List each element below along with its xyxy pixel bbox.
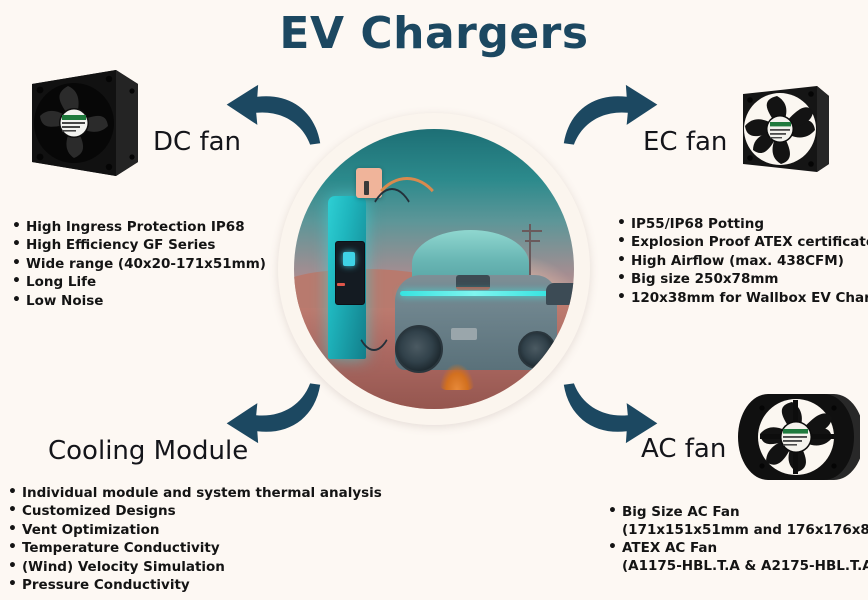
ec-axial-fan-photo [737,80,833,176]
list-item: Individual module and system thermal ana… [8,484,382,502]
list-item: Big size 250x78mm [617,270,868,288]
cooling-module-feature-list: Individual module and system thermal ana… [8,484,382,594]
charging-station-sign-glyph [364,181,369,195]
car-plate [451,328,477,340]
list-item: IP55/IP68 Potting [617,215,868,233]
list-item: ATEX AC Fan [608,539,868,557]
ev-car-charging-station-photo [294,129,574,409]
ec-fan-feature-list: IP55/IP68 Potting Explosion Proof ATEX c… [617,215,868,307]
list-item: High Efficiency GF Series [12,236,266,254]
list-item: Pressure Conductivity [8,576,382,594]
list-item: Big Size AC Fan [608,503,868,521]
ac-fan-feature-list: Big Size AC Fan (171x151x51mm and 176x17… [608,503,868,575]
dc-axial-fan-photo [24,62,146,184]
ac-axial-fan-photo [738,388,860,486]
list-item: Vent Optimization [8,521,382,539]
list-item: High Ingress Protection IP68 [12,218,266,236]
car-wheel-left [395,325,443,373]
page-title: EV Chargers [0,8,868,59]
list-item: Temperature Conductivity [8,539,382,557]
list-item: (Wind) Velocity Simulation [8,558,382,576]
list-item-detail: (171x151x51mm and 176x176x89mm) [608,521,868,539]
charging-station-indicator [337,283,345,286]
background-car [546,283,574,305]
list-item: High Airflow (max. 438CFM) [617,252,868,270]
charging-station-display [343,252,355,266]
list-item: Customized Designs [8,502,382,520]
power-pole-crossbar [522,230,542,232]
list-item: Long Life [12,273,266,291]
list-item: 120x38mm for Wallbox EV Chargers [617,289,868,307]
heading-dc-fan: DC fan [153,127,241,157]
car-light-bar [400,291,548,296]
infographic-canvas: EV Chargers [0,0,868,600]
arrow-to-cooling-module [222,378,326,444]
heading-cooling-module: Cooling Module [48,436,248,466]
list-item: Wide range (40x20-171x51mm) [12,255,266,273]
car-wheel-right [518,331,556,369]
power-pole-crossbar-lower [525,240,540,242]
list-item: Low Noise [12,292,266,310]
list-item-detail: (A1175-HBL.T.A & A2175-HBL.T.A) [608,557,868,575]
heading-ec-fan: EC fan [643,127,727,157]
desert-shrub [440,364,474,390]
car-spoiler [456,275,490,290]
dc-fan-feature-list: High Ingress Protection IP68 High Effici… [12,218,266,310]
list-item: Explosion Proof ATEX certificate [617,233,868,251]
heading-ac-fan: AC fan [641,434,726,464]
